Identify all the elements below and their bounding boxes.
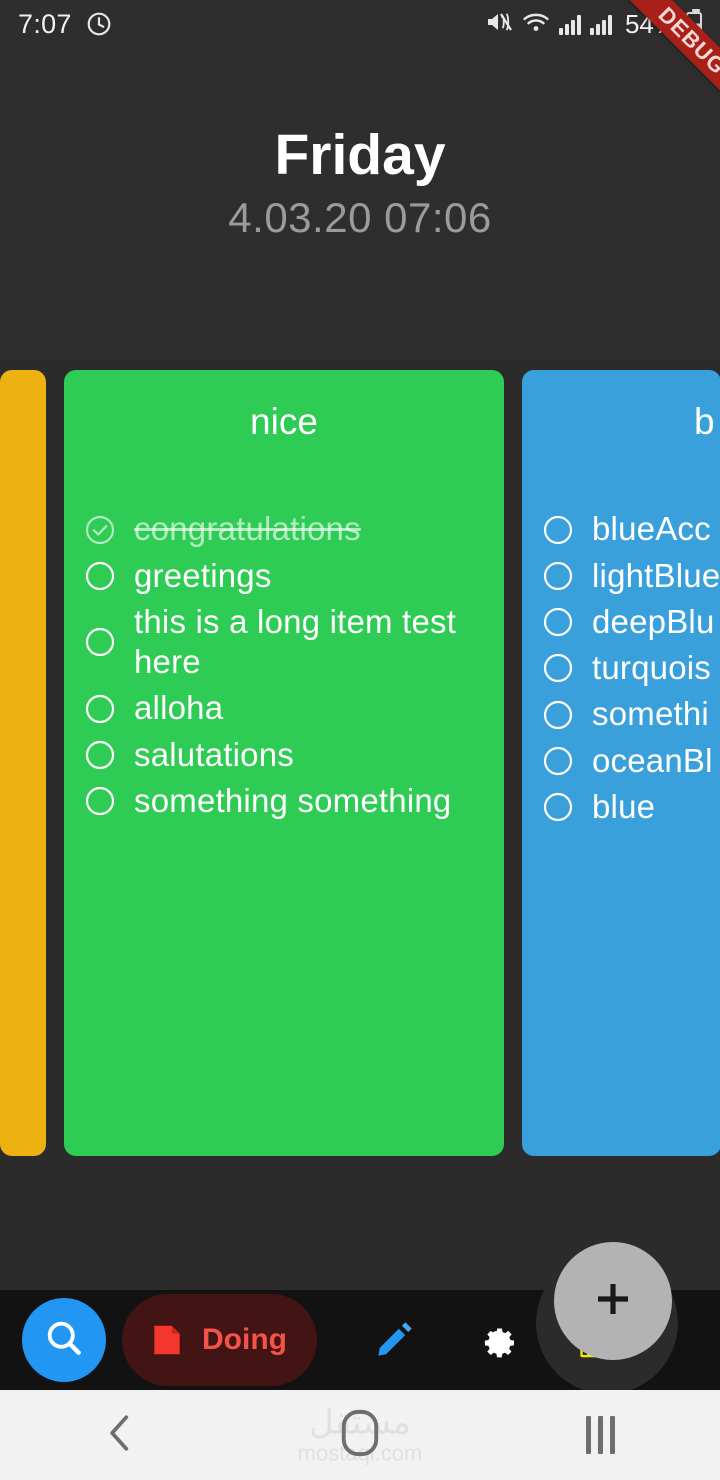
list-item[interactable]: congratulations (84, 506, 490, 552)
plus-icon (589, 1275, 637, 1328)
checkbox-icon[interactable] (84, 785, 116, 817)
list-item[interactable]: lightBlue (542, 553, 707, 599)
wifi-icon (522, 10, 550, 39)
checkbox-icon[interactable] (84, 626, 116, 658)
gear-icon (475, 1316, 519, 1365)
list-item[interactable]: salutations (84, 732, 490, 778)
checkbox-icon[interactable] (542, 514, 574, 546)
list-item-label: alloha (134, 688, 223, 728)
checkbox-icon[interactable] (84, 560, 116, 592)
signal-icon-1 (559, 13, 581, 35)
android-nav-bar: مستقل mostaql.com (0, 1390, 720, 1480)
nav-recents-button[interactable] (540, 1416, 660, 1454)
board-carousel[interactable]: nice congratulations greetings this is a… (0, 370, 720, 1156)
checkbox-icon[interactable] (542, 652, 574, 684)
edit-button[interactable] (373, 1315, 419, 1366)
list-item-label: lightBlue (592, 556, 720, 596)
board-card-blue[interactable]: b blueAcc lightBlue deepBlu (522, 370, 720, 1156)
signal-icon-2 (590, 13, 612, 35)
status-time: 7:07 (18, 9, 72, 40)
settings-button[interactable] (475, 1316, 519, 1365)
page-title: Friday (274, 126, 445, 186)
checkbox-icon[interactable] (542, 606, 574, 638)
search-icon (42, 1316, 86, 1365)
list-item-label: blueAcc (592, 509, 711, 549)
board-card-nice[interactable]: nice congratulations greetings this is a… (64, 370, 504, 1156)
alarm-icon (86, 11, 112, 37)
recents-icon (586, 1416, 615, 1454)
board-title: nice (64, 400, 504, 444)
board-title: b (522, 400, 720, 444)
battery-icon (686, 12, 702, 37)
search-button[interactable] (22, 1298, 106, 1382)
list-item-label: deepBlu (592, 602, 715, 642)
checkbox-checked-icon[interactable] (84, 514, 116, 546)
checkbox-icon[interactable] (542, 699, 574, 731)
checkbox-icon[interactable] (84, 739, 116, 771)
list-item-label: something something (134, 781, 451, 821)
list-item-label: oceanBl (592, 741, 713, 781)
list-item-label: blue (592, 787, 655, 827)
status-bar: 7:07 54% (0, 0, 720, 48)
board-card-yellow[interactable] (0, 370, 46, 1156)
home-icon (338, 1407, 382, 1464)
doing-label: Doing (202, 1323, 287, 1357)
list-item[interactable]: blue (542, 784, 707, 830)
todo-list: congratulations greetings this is a long… (64, 506, 504, 824)
list-item[interactable]: somethi (542, 691, 707, 737)
header: Friday 4.03.20 07:06 (0, 48, 720, 360)
todo-list: blueAcc lightBlue deepBlu turquois (522, 506, 720, 830)
list-item-label: somethi (592, 694, 709, 734)
list-item-label: turquois (592, 648, 711, 688)
note-icon (148, 1321, 186, 1359)
list-item[interactable]: turquois (542, 645, 707, 691)
list-item[interactable]: blueAcc (542, 506, 707, 552)
list-item-label: congratulations (134, 509, 361, 549)
checkbox-icon[interactable] (542, 791, 574, 823)
battery-percent: 54% (625, 9, 677, 40)
checkbox-icon[interactable] (84, 693, 116, 725)
list-item[interactable]: something something (84, 778, 490, 824)
doing-filter-chip[interactable]: Doing (122, 1294, 317, 1386)
list-item-label: greetings (134, 556, 272, 596)
add-button[interactable] (554, 1242, 672, 1360)
list-item-label: salutations (134, 735, 294, 775)
list-item[interactable]: deepBlu (542, 599, 707, 645)
pencil-icon (373, 1315, 419, 1366)
list-item[interactable]: oceanBl (542, 738, 707, 784)
list-item[interactable]: this is a long item test here (84, 599, 490, 686)
mute-icon (485, 10, 513, 39)
nav-home-button[interactable] (300, 1407, 420, 1464)
nav-back-button[interactable] (60, 1411, 180, 1460)
header-datetime: 4.03.20 07:06 (228, 194, 491, 242)
list-item[interactable]: greetings (84, 553, 490, 599)
checkbox-icon[interactable] (542, 560, 574, 592)
back-icon (100, 1411, 140, 1460)
list-item[interactable]: alloha (84, 685, 490, 731)
list-item-label: this is a long item test here (134, 602, 490, 683)
checkbox-icon[interactable] (542, 745, 574, 777)
